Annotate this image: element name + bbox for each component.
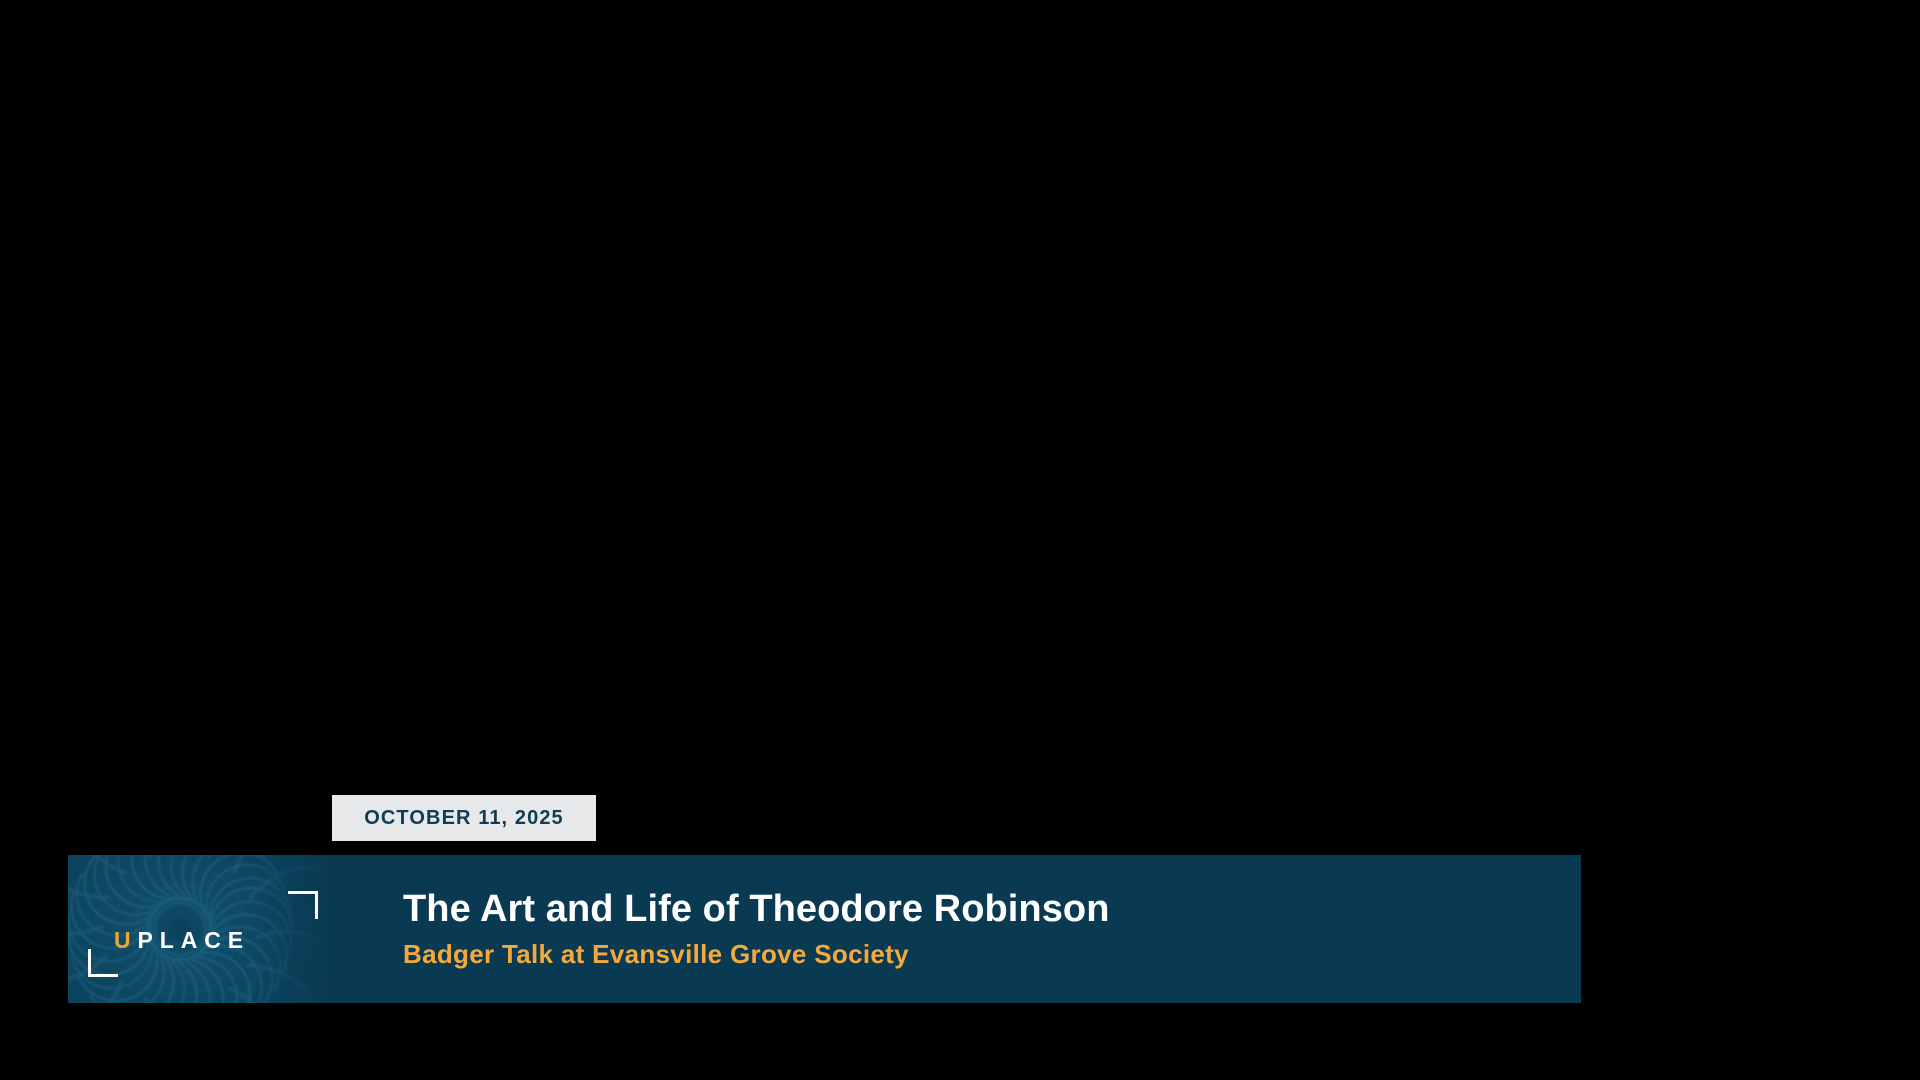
event-subtitle: Badger Talk at Evansville Grove Society bbox=[403, 939, 1581, 970]
uplace-logo[interactable]: UPLACE bbox=[88, 883, 318, 983]
logo-bracket-top-right-icon bbox=[288, 891, 318, 919]
logo-wordmark-rest: PLACE bbox=[138, 927, 250, 953]
event-title: The Art and Life of Theodore Robinson bbox=[403, 888, 1581, 931]
event-banner[interactable]: UPLACE The Art and Life of Theodore Robi… bbox=[68, 855, 1581, 1003]
event-date-badge: OCTOBER 11, 2025 bbox=[332, 795, 596, 841]
logo-bracket-bottom-left-icon bbox=[88, 949, 118, 977]
logo-wordmark-initial: U bbox=[114, 927, 138, 953]
banner-text-block: The Art and Life of Theodore Robinson Ba… bbox=[336, 855, 1581, 1003]
logo-wordmark: UPLACE bbox=[114, 929, 250, 952]
event-date-text: OCTOBER 11, 2025 bbox=[364, 807, 564, 830]
page-canvas: OCTOBER 11, 2025 bbox=[0, 0, 1920, 1080]
